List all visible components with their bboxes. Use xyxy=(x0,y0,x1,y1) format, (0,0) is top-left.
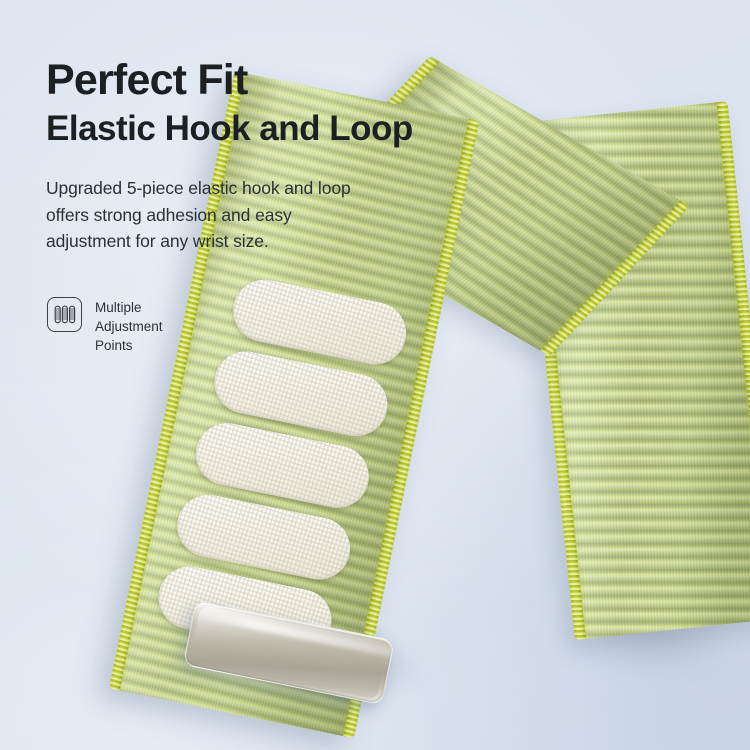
description-line-2: offers strong adhesion and easy xyxy=(46,202,476,229)
description-line-1: Upgraded 5-piece elastic hook and loop xyxy=(46,175,476,202)
product-marketing-banner: Perfect Fit Elastic Hook and Loop Upgrad… xyxy=(0,0,750,750)
description-line-3: adjustment for any wrist size. xyxy=(46,228,476,255)
headline-secondary: Elastic Hook and Loop xyxy=(46,109,476,148)
headline-primary: Perfect Fit xyxy=(46,58,476,103)
feature-label: Multiple Adjustment Points xyxy=(95,297,163,355)
description-paragraph: Upgraded 5-piece elastic hook and loop o… xyxy=(46,175,476,255)
copy-block: Perfect Fit Elastic Hook and Loop Upgrad… xyxy=(46,58,476,255)
adjustment-strips-icon xyxy=(47,297,82,332)
feature-label-line-2: Adjustment xyxy=(95,317,163,336)
feature-badge: Multiple Adjustment Points xyxy=(47,297,163,355)
feature-label-line-3: Points xyxy=(95,336,163,355)
feature-label-line-1: Multiple xyxy=(95,298,163,317)
